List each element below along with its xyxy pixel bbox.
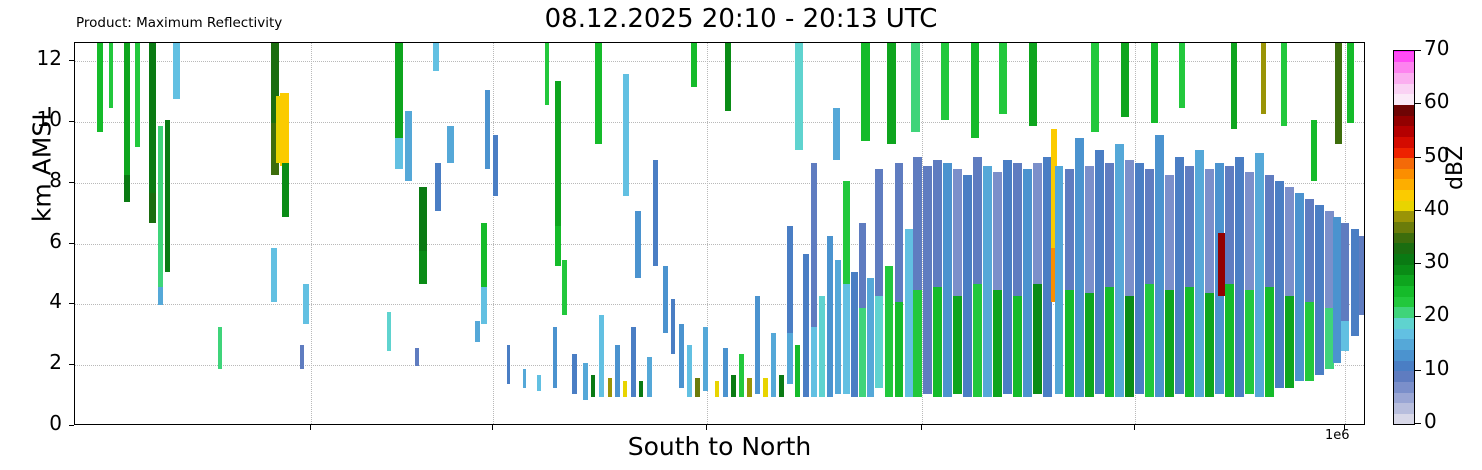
reflectivity-segment	[507, 345, 510, 385]
reflectivity-segment	[1105, 287, 1114, 396]
reflectivity-segment	[572, 354, 577, 394]
reflectivity-column	[731, 42, 736, 424]
reflectivity-segment	[553, 327, 557, 388]
reflectivity-column	[739, 42, 744, 424]
reflectivity-column	[803, 42, 809, 424]
reflectivity-segment	[895, 302, 903, 396]
reflectivity-column	[545, 42, 549, 424]
reflectivity-segment	[679, 324, 684, 388]
colorbar-band	[1394, 211, 1414, 222]
reflectivity-segment	[747, 378, 752, 396]
colorbar-band	[1394, 147, 1414, 158]
reflectivity-column	[1091, 42, 1099, 424]
colorbar-band	[1394, 136, 1414, 147]
reflectivity-segment	[941, 42, 949, 120]
reflectivity-column	[1013, 42, 1022, 424]
reflectivity-column	[1165, 42, 1174, 424]
reflectivity-segment	[135, 42, 140, 147]
reflectivity-segment	[1185, 287, 1194, 396]
reflectivity-segment	[1265, 287, 1274, 396]
reflectivity-segment	[983, 166, 992, 397]
reflectivity-segment	[173, 42, 180, 99]
reflectivity-segment	[923, 166, 932, 394]
reflectivity-column	[923, 42, 932, 424]
reflectivity-column	[787, 42, 793, 424]
reflectivity-column	[475, 42, 480, 424]
colorbar-tick-label: 0	[1424, 409, 1437, 433]
reflectivity-column	[405, 42, 412, 424]
reflectivity-segment	[623, 74, 629, 196]
reflectivity-segment	[1245, 172, 1254, 291]
colorbar-band	[1394, 158, 1414, 169]
colorbar-tick-label: 10	[1424, 356, 1449, 380]
reflectivity-segment	[481, 223, 487, 287]
x-tick-mark	[492, 425, 493, 430]
reflectivity-segment	[731, 375, 736, 396]
reflectivity-segment	[971, 42, 979, 138]
reflectivity-segment	[595, 42, 602, 144]
x-tick-mark	[310, 425, 311, 430]
reflectivity-segment	[1205, 293, 1214, 396]
reflectivity-column	[523, 42, 526, 424]
colorbar-tick-mark	[1415, 50, 1421, 51]
colorbar-band	[1394, 381, 1414, 392]
reflectivity-column	[1151, 42, 1158, 424]
reflectivity-segment	[1135, 163, 1144, 394]
reflectivity-segment	[795, 42, 803, 150]
reflectivity-segment	[911, 42, 920, 132]
reflectivity-segment	[481, 287, 487, 323]
reflectivity-segment	[109, 42, 113, 108]
reflectivity-column	[562, 42, 567, 424]
reflectivity-segment	[1075, 138, 1084, 396]
reflectivity-segment	[653, 160, 658, 266]
x-axis-offset-text: 1e6	[1325, 428, 1350, 443]
y-tick-mark	[69, 182, 74, 183]
reflectivity-segment	[1261, 42, 1266, 114]
reflectivity-segment	[1281, 42, 1287, 126]
colorbar-band	[1394, 51, 1414, 62]
colorbar[interactable]	[1393, 50, 1415, 425]
reflectivity-segment	[851, 272, 858, 397]
colorbar-band	[1394, 243, 1414, 254]
colorbar-band	[1394, 126, 1414, 137]
reflectivity-segment	[787, 333, 793, 385]
colorbar-band	[1394, 296, 1414, 307]
reflectivity-column	[537, 42, 541, 424]
reflectivity-segment	[1351, 229, 1359, 335]
reflectivity-column	[755, 42, 760, 424]
reflectivity-column	[1359, 42, 1365, 424]
reflectivity-segment	[861, 42, 870, 141]
reflectivity-segment	[165, 120, 170, 272]
reflectivity-column	[763, 42, 768, 424]
reflectivity-column	[173, 42, 180, 424]
reflectivity-column	[953, 42, 962, 424]
reflectivity-segment	[725, 42, 731, 111]
colorbar-band	[1394, 253, 1414, 264]
colorbar-unit-label: dBZ	[1443, 146, 1468, 190]
y-tick-label: 0	[20, 411, 62, 435]
reflectivity-column	[271, 42, 277, 424]
colorbar-band	[1394, 94, 1414, 105]
reflectivity-segment	[663, 266, 668, 333]
reflectivity-segment	[419, 251, 427, 284]
reflectivity-column	[671, 42, 675, 424]
reflectivity-column	[1075, 42, 1084, 424]
product-annotation: Product: Maximum Reflectivity	[76, 15, 282, 31]
reflectivity-column	[218, 42, 222, 424]
colorbar-band	[1394, 275, 1414, 286]
reflectivity-column	[300, 42, 304, 424]
reflectivity-column	[703, 42, 708, 424]
reflectivity-column	[653, 42, 658, 424]
plot-area	[74, 42, 1365, 425]
reflectivity-segment	[97, 42, 103, 132]
reflectivity-column	[1135, 42, 1144, 424]
colorbar-tick-label: 60	[1424, 89, 1449, 113]
reflectivity-column	[835, 42, 841, 424]
reflectivity-segment	[819, 296, 825, 396]
reflectivity-column	[635, 42, 641, 424]
reflectivity-segment	[999, 42, 1007, 114]
y-tick-mark	[69, 121, 74, 122]
colorbar-tick-mark	[1415, 103, 1421, 104]
reflectivity-segment	[811, 163, 817, 327]
y-tick-label: 4	[20, 289, 62, 313]
reflectivity-segment	[158, 126, 163, 287]
reflectivity-segment	[271, 248, 277, 303]
reflectivity-column	[983, 42, 992, 424]
reflectivity-column	[165, 42, 170, 424]
reflectivity-segment	[1195, 150, 1204, 396]
reflectivity-column	[895, 42, 903, 424]
y-tick-label: 10	[20, 107, 62, 131]
reflectivity-segment	[771, 333, 776, 397]
reflectivity-column	[1261, 42, 1266, 424]
reflectivity-segment	[835, 260, 841, 394]
reflectivity-column	[647, 42, 652, 424]
reflectivity-column	[1265, 42, 1274, 424]
reflectivity-segment	[953, 169, 962, 297]
reflectivity-segment	[787, 226, 793, 332]
reflectivity-column	[1351, 42, 1359, 424]
colorbar-tick-label: 30	[1424, 249, 1449, 273]
reflectivity-segment	[1265, 175, 1274, 287]
reflectivity-column	[811, 42, 817, 424]
reflectivity-column	[419, 42, 427, 424]
colorbar-tick-label: 20	[1424, 302, 1449, 326]
reflectivity-column	[1295, 42, 1304, 424]
reflectivity-segment	[1231, 42, 1237, 129]
reflectivity-column	[1281, 42, 1287, 424]
colorbar-band	[1394, 392, 1414, 403]
colorbar-tick-mark	[1415, 423, 1421, 424]
reflectivity-column	[691, 42, 697, 424]
reflectivity-column	[595, 42, 602, 424]
reflectivity-column	[771, 42, 776, 424]
x-tick-mark	[1134, 425, 1135, 430]
reflectivity-column	[493, 42, 498, 424]
reflectivity-column	[861, 42, 870, 424]
reflectivity-column	[911, 42, 920, 424]
colorbar-tick-label: 70	[1424, 36, 1449, 60]
reflectivity-column	[1055, 42, 1063, 424]
reflectivity-column	[779, 42, 784, 424]
colorbar-tick-mark	[1415, 263, 1421, 264]
reflectivity-segment	[395, 138, 403, 168]
colorbar-band	[1394, 179, 1414, 190]
reflectivity-segment	[158, 287, 163, 305]
reflectivity-segment	[1311, 120, 1317, 181]
colorbar-band	[1394, 168, 1414, 179]
x-axis-label: South to North	[74, 432, 1365, 461]
reflectivity-column	[663, 42, 668, 424]
colorbar-band	[1394, 51, 1414, 52]
reflectivity-segment	[1245, 290, 1254, 393]
reflectivity-segment	[435, 163, 441, 212]
reflectivity-column	[1105, 42, 1114, 424]
figure-canvas: 08.12.2025 20:10 - 20:13 UTC Product: Ma…	[0, 0, 1482, 470]
reflectivity-segment	[447, 126, 454, 162]
reflectivity-column	[715, 42, 719, 424]
colorbar-band	[1394, 83, 1414, 94]
reflectivity-column	[1245, 42, 1254, 424]
colorbar-tick-mark	[1415, 370, 1421, 371]
reflectivity-segment	[811, 327, 817, 397]
y-tick-mark	[69, 303, 74, 304]
reflectivity-segment	[1165, 175, 1174, 291]
reflectivity-column	[387, 42, 391, 424]
colorbar-band	[1394, 232, 1414, 243]
reflectivity-column	[747, 42, 752, 424]
reflectivity-column	[1311, 42, 1317, 424]
reflectivity-segment	[647, 357, 652, 397]
colorbar-band	[1394, 62, 1414, 73]
reflectivity-segment	[124, 175, 130, 202]
reflectivity-segment	[583, 363, 588, 399]
reflectivity-segment	[779, 375, 784, 396]
reflectivity-segment	[387, 312, 391, 352]
reflectivity-segment	[124, 42, 130, 175]
reflectivity-column	[1335, 42, 1342, 424]
reflectivity-segment	[635, 211, 641, 278]
reflectivity-segment	[405, 111, 412, 181]
reflectivity-column	[1121, 42, 1129, 424]
reflectivity-segment	[1205, 169, 1214, 294]
reflectivity-column	[1195, 42, 1204, 424]
reflectivity-segment	[1295, 193, 1304, 381]
y-tick-label: 2	[20, 350, 62, 374]
reflectivity-column	[971, 42, 979, 424]
reflectivity-segment	[1013, 296, 1022, 396]
reflectivity-column	[623, 42, 629, 424]
x-tick-mark	[706, 425, 707, 430]
reflectivity-column	[843, 42, 850, 424]
colorbar-band	[1394, 190, 1414, 201]
reflectivity-column	[1185, 42, 1194, 424]
reflectivity-column	[124, 42, 130, 424]
reflectivity-segment	[763, 378, 768, 396]
colorbar-band	[1394, 264, 1414, 275]
reflectivity-column	[447, 42, 454, 424]
reflectivity-segment	[803, 254, 809, 397]
reflectivity-segment	[755, 296, 760, 393]
colorbar-band	[1394, 339, 1414, 350]
y-tick-mark	[69, 364, 74, 365]
reflectivity-segment	[419, 187, 427, 251]
reflectivity-segment	[1065, 290, 1074, 396]
reflectivity-segment	[149, 193, 156, 223]
reflectivity-column	[135, 42, 140, 424]
reflectivity-segment	[1121, 42, 1129, 117]
reflectivity-column	[395, 42, 403, 424]
y-tick-mark	[69, 425, 74, 426]
reflectivity-column	[1231, 42, 1237, 424]
reflectivity-column	[583, 42, 588, 424]
reflectivity-segment	[282, 163, 289, 218]
colorbar-tick-mark	[1415, 210, 1421, 211]
reflectivity-segment	[691, 42, 697, 87]
reflectivity-segment	[300, 345, 304, 369]
colorbar-band	[1394, 222, 1414, 233]
reflectivity-column	[875, 42, 883, 424]
reflectivity-column	[1065, 42, 1074, 424]
reflectivity-column	[553, 42, 557, 424]
y-tick-label: 12	[20, 46, 62, 70]
reflectivity-column	[282, 42, 289, 424]
reflectivity-column	[1029, 42, 1037, 424]
reflectivity-column	[481, 42, 487, 424]
reflectivity-column	[507, 42, 510, 424]
reflectivity-column	[109, 42, 113, 424]
reflectivity-column	[941, 42, 949, 424]
colorbar-band	[1394, 72, 1414, 83]
reflectivity-segment	[1165, 290, 1174, 396]
reflectivity-segment	[1185, 166, 1194, 288]
colorbar-band	[1394, 285, 1414, 296]
reflectivity-column	[725, 42, 731, 424]
colorbar-band	[1394, 317, 1414, 328]
reflectivity-segment	[843, 181, 850, 284]
colorbar-tick-mark	[1415, 157, 1421, 158]
reflectivity-segment	[875, 296, 883, 387]
reflectivity-segment	[1335, 42, 1342, 144]
reflectivity-segment	[715, 381, 719, 396]
reflectivity-column	[1179, 42, 1185, 424]
reflectivity-segment	[1179, 42, 1185, 108]
reflectivity-segment	[149, 42, 156, 193]
reflectivity-segment	[562, 260, 567, 315]
reflectivity-segment	[1013, 163, 1022, 297]
reflectivity-segment	[1105, 163, 1114, 288]
colorbar-band	[1394, 403, 1414, 414]
reflectivity-segment	[1065, 169, 1074, 291]
reflectivity-segment	[739, 354, 744, 397]
reflectivity-column	[608, 42, 612, 424]
colorbar-band	[1394, 104, 1414, 115]
reflectivity-segment	[703, 327, 708, 391]
x-tick-mark	[921, 425, 922, 430]
colorbar-band	[1394, 413, 1414, 424]
reflectivity-segment	[953, 296, 962, 393]
reflectivity-column	[615, 42, 620, 424]
reflectivity-segment	[843, 284, 850, 393]
reflectivity-segment	[1055, 166, 1063, 394]
reflectivity-segment	[218, 327, 222, 370]
reflectivity-segment	[895, 163, 903, 303]
reflectivity-segment	[1359, 236, 1365, 315]
reflectivity-segment	[395, 42, 403, 138]
reflectivity-segment	[545, 42, 549, 105]
colorbar-band	[1394, 328, 1414, 339]
reflectivity-column	[97, 42, 103, 424]
reflectivity-segment	[523, 369, 526, 387]
reflectivity-segment	[1091, 42, 1099, 132]
reflectivity-segment	[671, 299, 675, 354]
y-tick-mark	[69, 60, 74, 61]
reflectivity-column	[795, 42, 803, 424]
colorbar-band	[1394, 360, 1414, 371]
colorbar-band	[1394, 307, 1414, 318]
colorbar-tick-label: 40	[1424, 196, 1449, 220]
reflectivity-column	[435, 42, 441, 424]
colorbar-tick-mark	[1415, 316, 1421, 317]
reflectivity-segment	[875, 169, 883, 297]
reflectivity-column	[149, 42, 156, 424]
reflectivity-segment	[493, 135, 498, 196]
reflectivity-segment	[1151, 42, 1158, 123]
reflectivity-column	[158, 42, 163, 424]
reflectivity-segment	[615, 345, 620, 397]
y-tick-label: 6	[20, 229, 62, 253]
colorbar-band	[1394, 115, 1414, 126]
colorbar-band	[1394, 371, 1414, 382]
reflectivity-columns	[75, 43, 1364, 424]
y-tick-mark	[69, 243, 74, 244]
reflectivity-segment	[608, 378, 612, 396]
reflectivity-column	[851, 42, 858, 424]
reflectivity-column	[999, 42, 1007, 424]
reflectivity-segment	[1029, 42, 1037, 126]
reflectivity-column	[679, 42, 684, 424]
reflectivity-segment	[475, 321, 480, 342]
reflectivity-column	[572, 42, 577, 424]
y-tick-label: 8	[20, 168, 62, 192]
colorbar-band	[1394, 349, 1414, 360]
colorbar-band	[1394, 200, 1414, 211]
reflectivity-column	[1205, 42, 1214, 424]
reflectivity-segment	[537, 375, 541, 390]
reflectivity-column	[819, 42, 825, 424]
y-axis-label: km AMSL	[28, 35, 57, 295]
